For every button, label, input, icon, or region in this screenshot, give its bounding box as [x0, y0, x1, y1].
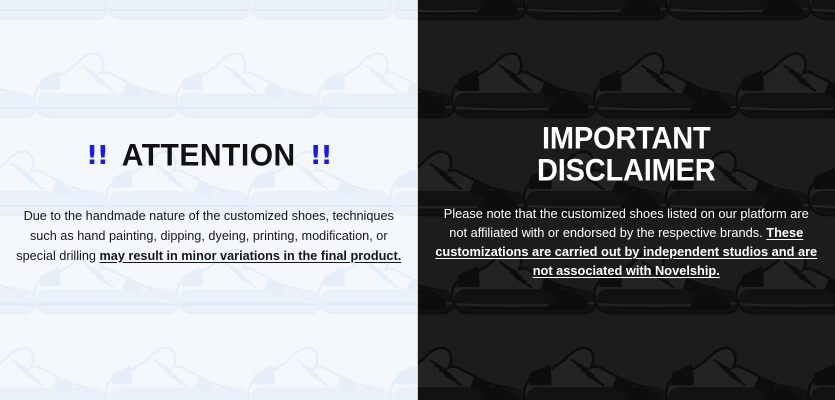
disclaimer-banner: !! ATTENTION !! Due to the handmade natu… [0, 0, 835, 400]
disclaimer-body: Please note that the customized shoes li… [434, 204, 820, 281]
disclaimer-panel: IMPORTANT DISCLAIMER Please note that th… [418, 0, 835, 400]
disclaimer-body-lead: Please note that the customized shoes li… [444, 206, 809, 240]
attention-heading-row: !! ATTENTION !! [16, 121, 402, 191]
panel-divider [417, 0, 418, 400]
attention-title: ATTENTION [122, 140, 296, 172]
disclaimer-title-line-2: DISCLAIMER [434, 155, 820, 187]
attention-body-emphasis: may result in minor variations in the fi… [99, 249, 401, 263]
double-exclamation-right-icon: !! [310, 143, 332, 169]
disclaimer-title: IMPORTANT DISCLAIMER [434, 123, 820, 187]
double-exclamation-left-icon: !! [86, 143, 108, 169]
disclaimer-content: IMPORTANT DISCLAIMER Please note that th… [418, 107, 835, 293]
attention-content: !! ATTENTION !! Due to the handmade natu… [0, 121, 418, 279]
attention-body: Due to the handmade nature of the custom… [16, 207, 402, 266]
attention-panel: !! ATTENTION !! Due to the handmade natu… [0, 0, 418, 400]
disclaimer-title-line-1: IMPORTANT [434, 123, 820, 155]
